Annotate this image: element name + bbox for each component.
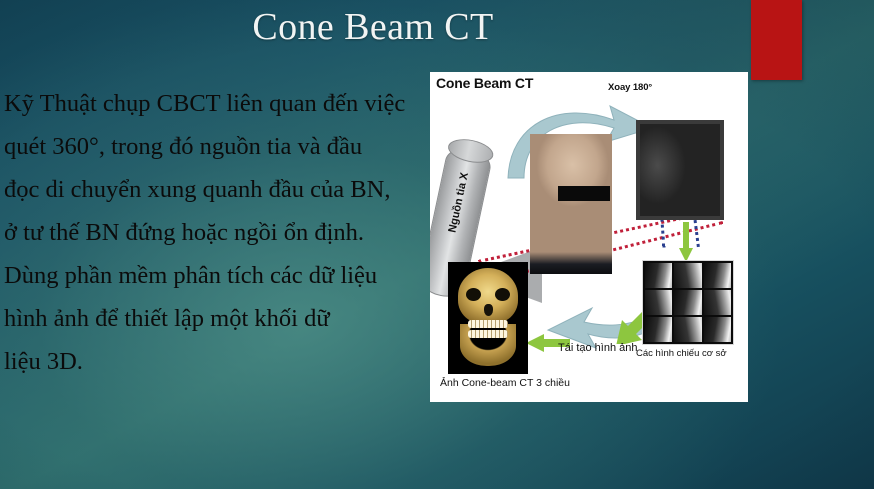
volume-label: Ảnh Cone-beam CT 3 chiều <box>440 377 570 389</box>
body-line: hình ảnh để thiết lập một khối dữ <box>4 297 428 340</box>
figure-title: Cone Beam CT <box>436 75 533 91</box>
projections-label: Các hình chiếu cơ sở <box>636 348 727 359</box>
cbct-diagram-figure: Cone Beam CT Xoay 180° Nguồn tia X <box>430 72 748 402</box>
patient-face-photo <box>530 134 612 274</box>
page-title: Cone Beam CT <box>0 4 746 50</box>
body-text-block: Kỹ Thuật chụp CBCT liên quan đến việc qu… <box>4 82 428 383</box>
body-line: đọc di chuyển xung quanh đầu của BN, <box>4 168 428 211</box>
cbct-3d-volume-image <box>448 262 528 374</box>
rotation-label: Xoay 180° <box>608 82 652 93</box>
reconstruction-label: Tái tạo hình ảnh <box>558 342 638 354</box>
accent-bar <box>751 0 802 80</box>
slide-canvas: Cone Beam CT Kỹ Thuật chụp CBCT liên qua… <box>0 0 874 489</box>
body-line: liệu 3D. <box>4 340 428 383</box>
body-line: Dùng phần mềm phân tích các dữ liệu <box>4 254 428 297</box>
basic-projections-grid <box>642 260 734 345</box>
body-line: Kỹ Thuật chụp CBCT liên quan đến việc <box>4 82 428 125</box>
body-line: ở tư thế BN đứng hoặc ngồi ổn định. <box>4 211 428 254</box>
arrow-down-icon <box>678 222 694 262</box>
privacy-eye-bar <box>558 186 610 201</box>
detector-xray-image <box>636 120 724 220</box>
body-line: quét 360°, trong đó nguồn tia và đầu <box>4 125 428 168</box>
